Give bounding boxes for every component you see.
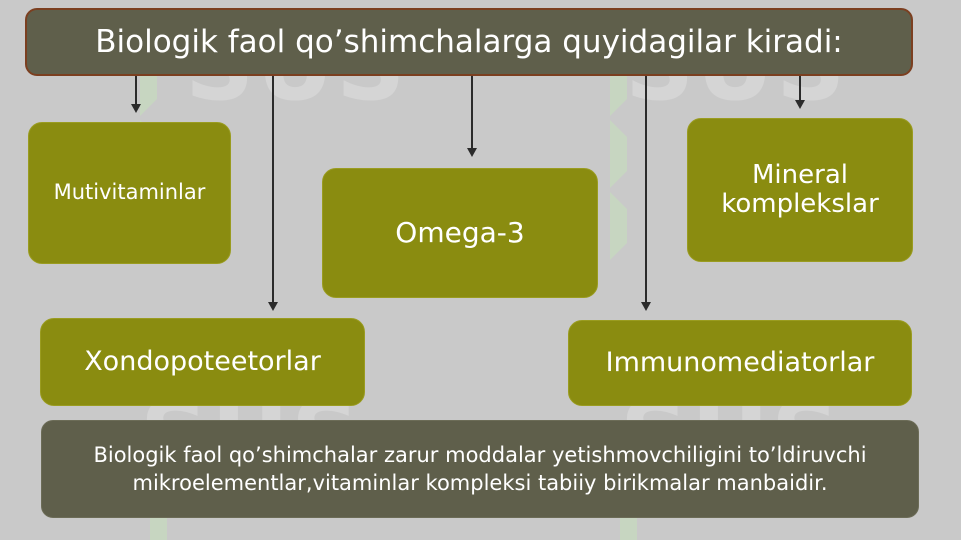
connector-line-immunomediatorlar: [645, 76, 647, 304]
connector-line-xondopoteetorlar: [272, 76, 274, 304]
node-omega-3: Omega-3: [322, 168, 598, 298]
node-mineral-komplekslar: Mineral komplekslar: [687, 118, 913, 262]
connector-arrowhead-mineral-komplekslar: [795, 100, 805, 109]
connector-arrowhead-xondopoteetorlar: [268, 302, 278, 311]
connector-arrowhead-immunomediatorlar: [641, 302, 651, 311]
watermark-chevron-icon: [610, 120, 661, 188]
connector-line-multivitaminlar: [135, 76, 137, 106]
node-multivitaminlar: Mutivitaminlar: [28, 122, 231, 264]
node-immunomediatorlar: Immunomediatorlar: [568, 320, 912, 406]
connector-arrowhead-multivitaminlar: [131, 104, 141, 113]
connector-line-mineral-komplekslar: [799, 76, 801, 102]
connector-line-omega-3: [471, 76, 473, 150]
connector-arrowhead-omega-3: [467, 148, 477, 157]
footer-description: Biologik faol qo’shimchalar zarur moddal…: [41, 420, 919, 518]
watermark-chevron-icon: [610, 192, 661, 260]
node-xondopoteetorlar: Xondopoteetorlar: [40, 318, 365, 406]
slide-title: Biologik faol qo’shimchalarga quyidagila…: [25, 8, 913, 76]
slide-canvas: SUS SUS SUS SUS Biologik faol qo’shimcha…: [0, 0, 961, 540]
